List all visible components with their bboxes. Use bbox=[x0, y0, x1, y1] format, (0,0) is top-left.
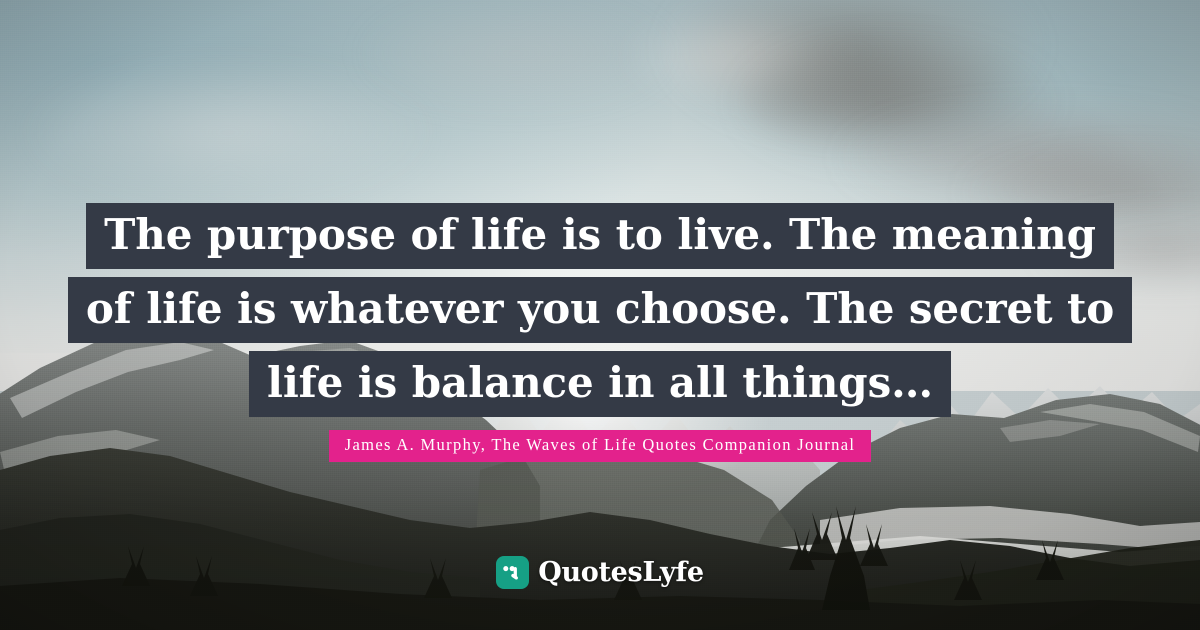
quote-text-block: The purpose of life is to live. The mean… bbox=[0, 203, 1200, 417]
quote-line: life is balance in all things… bbox=[249, 351, 951, 417]
attribution-block: James A. Murphy, The Waves of Life Quote… bbox=[0, 430, 1200, 462]
quoteslyfe-logo[interactable]: QuotesLyfe bbox=[0, 556, 1200, 589]
quote-line: The purpose of life is to live. The mean… bbox=[86, 203, 1114, 269]
quote-line: of life is whatever you choose. The secr… bbox=[68, 277, 1132, 343]
quote-attribution: James A. Murphy, The Waves of Life Quote… bbox=[329, 430, 872, 462]
quote-mark-icon bbox=[496, 556, 529, 589]
poster-content: The purpose of life is to live. The mean… bbox=[0, 0, 1200, 630]
brand-name: QuotesLyfe bbox=[538, 559, 704, 586]
quote-poster: The purpose of life is to live. The mean… bbox=[0, 0, 1200, 630]
